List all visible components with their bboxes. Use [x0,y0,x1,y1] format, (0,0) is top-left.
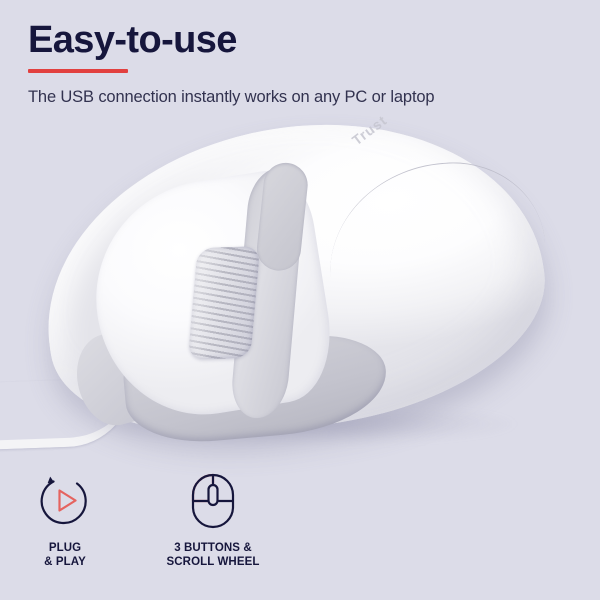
feature-icon-wrap [120,470,306,532]
mouse-scroll-wheel [188,246,260,360]
feature-caption: 3 BUTTONS & SCROLL WHEEL [120,542,306,569]
scroll-wheel-highlight [188,246,260,360]
circular-arrow-play-icon [37,473,93,529]
product-image: Trust [0,118,600,463]
feature-buttons-scroll-wheel: 3 BUTTONS & SCROLL WHEEL [120,470,306,569]
feature-icon-wrap [10,470,120,532]
feature-icon-row: PLUG & PLAY 3 BUTTONS & SCROLL WHEEL [0,470,600,590]
feature-plug-and-play: PLUG & PLAY [10,470,120,569]
page-title: Easy-to-use [28,18,568,62]
title-underline-rule [28,69,128,73]
mouse-buttons-icon [189,471,237,531]
feature-caption: PLUG & PLAY [10,542,120,569]
product-feature-banner: Easy-to-use The USB connection instantly… [0,0,600,600]
